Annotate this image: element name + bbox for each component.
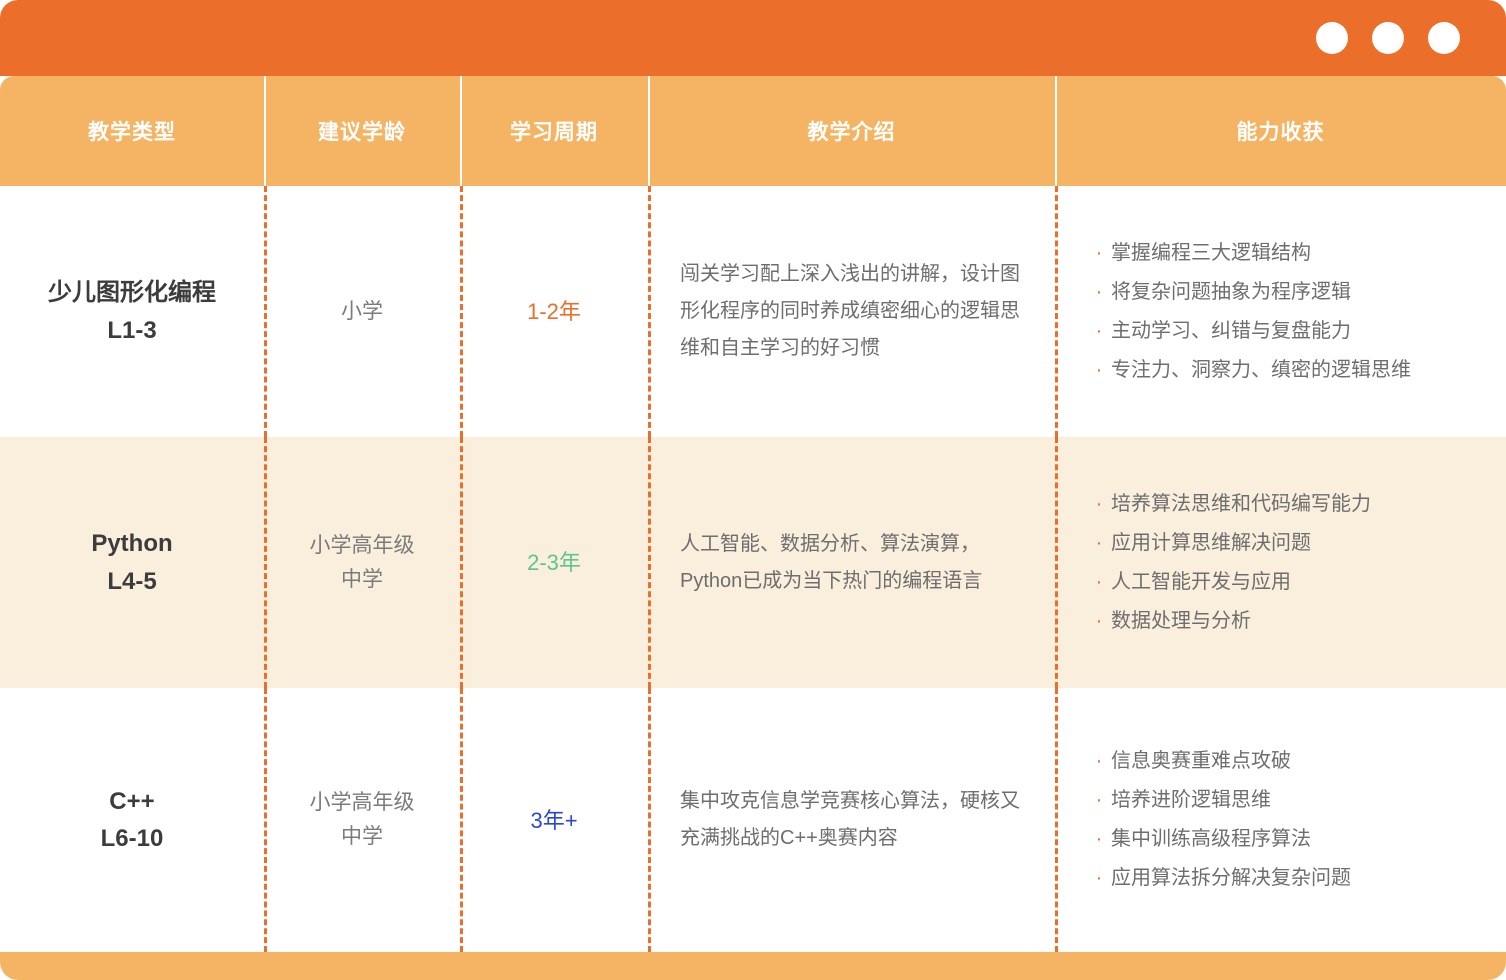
bullet-icon: · <box>1087 273 1111 312</box>
bullet-icon: · <box>1087 485 1111 524</box>
period-value: 3年+ <box>530 804 577 837</box>
list-item: · 应用算法拆分解决复杂问题 <box>1087 859 1486 898</box>
cell-age: 小学 <box>264 186 460 437</box>
window-dot-1-icon[interactable] <box>1316 22 1348 54</box>
intro-text: 集中攻克信息学竞赛核心算法，硬核又充满挑战的C++奥赛内容 <box>648 783 1055 857</box>
type-name-line1: Python <box>91 525 172 562</box>
bullet-icon: · <box>1087 820 1111 859</box>
window-title-bar <box>0 0 1506 76</box>
type-name-line1: 少儿图形化编程 <box>48 274 216 311</box>
course-comparison-card: 教学类型 建议学龄 学习周期 教学介绍 能力收获 少儿图形化编程 L1-3 小学… <box>0 0 1506 980</box>
gains-list: · 培养算法思维和代码编写能力 · 应用计算思维解决问题 · 人工智能开发与应用… <box>1055 485 1506 641</box>
list-item: · 主动学习、纠错与复盘能力 <box>1087 312 1486 351</box>
list-item: · 人工智能开发与应用 <box>1087 563 1486 602</box>
bullet-icon: · <box>1087 859 1111 898</box>
list-item: · 数据处理与分析 <box>1087 602 1486 641</box>
age-line1: 小学高年级 <box>310 529 415 563</box>
cell-type: 少儿图形化编程 L1-3 <box>0 186 264 437</box>
cell-period: 2-3年 <box>460 437 648 688</box>
gain-text: 信息奥赛重难点攻破 <box>1111 742 1291 781</box>
gain-text: 掌握编程三大逻辑结构 <box>1111 234 1311 273</box>
cell-gains: · 掌握编程三大逻辑结构 · 将复杂问题抽象为程序逻辑 · 主动学习、纠错与复盘… <box>1055 186 1506 437</box>
bullet-icon: · <box>1087 781 1111 820</box>
card-footer-bar <box>0 952 1506 980</box>
table-body: 少儿图形化编程 L1-3 小学 1-2年 闯关学习配上深入浅出的讲解，设计图形化… <box>0 186 1506 952</box>
period-value: 1-2年 <box>527 295 581 328</box>
cell-age: 小学高年级 中学 <box>264 437 460 688</box>
gain-text: 应用计算思维解决问题 <box>1111 524 1311 563</box>
cell-period: 3年+ <box>460 688 648 952</box>
gain-text: 应用算法拆分解决复杂问题 <box>1111 859 1351 898</box>
cell-intro: 集中攻克信息学竞赛核心算法，硬核又充满挑战的C++奥赛内容 <box>648 688 1055 952</box>
table-row: 少儿图形化编程 L1-3 小学 1-2年 闯关学习配上深入浅出的讲解，设计图形化… <box>0 186 1506 437</box>
cell-gains: · 培养算法思维和代码编写能力 · 应用计算思维解决问题 · 人工智能开发与应用… <box>1055 437 1506 688</box>
list-item: · 专注力、洞察力、缜密的逻辑思维 <box>1087 351 1486 390</box>
column-header-period: 学习周期 <box>460 76 648 186</box>
gain-text: 主动学习、纠错与复盘能力 <box>1111 312 1351 351</box>
type-name-line2: L1-3 <box>48 312 216 349</box>
cell-intro: 闯关学习配上深入浅出的讲解，设计图形化程序的同时养成缜密细心的逻辑思维和自主学习… <box>648 186 1055 437</box>
list-item: · 应用计算思维解决问题 <box>1087 524 1486 563</box>
gain-text: 将复杂问题抽象为程序逻辑 <box>1111 273 1351 312</box>
gain-text: 数据处理与分析 <box>1111 602 1251 641</box>
gain-text: 集中训练高级程序算法 <box>1111 820 1311 859</box>
intro-text: 人工智能、数据分析、算法演算，Python已成为当下热门的编程语言 <box>648 526 1055 600</box>
table-row: C++ L6-10 小学高年级 中学 3年+ 集中攻克信息学竞赛核心算法，硬核又… <box>0 688 1506 952</box>
cell-type: C++ L6-10 <box>0 688 264 952</box>
cell-gains: · 信息奥赛重难点攻破 · 培养进阶逻辑思维 · 集中训练高级程序算法 · 应用… <box>1055 688 1506 952</box>
bullet-icon: · <box>1087 312 1111 351</box>
table-row: Python L4-5 小学高年级 中学 2-3年 人工智能、数据分析、算法演算… <box>0 437 1506 688</box>
period-value: 2-3年 <box>527 546 581 579</box>
table-header-row: 教学类型 建议学龄 学习周期 教学介绍 能力收获 <box>0 76 1506 186</box>
bullet-icon: · <box>1087 742 1111 781</box>
cell-age: 小学高年级 中学 <box>264 688 460 952</box>
window-dot-3-icon[interactable] <box>1428 22 1460 54</box>
list-item: · 集中训练高级程序算法 <box>1087 820 1486 859</box>
type-name-line2: L4-5 <box>91 563 172 600</box>
bullet-icon: · <box>1087 234 1111 273</box>
intro-text: 闯关学习配上深入浅出的讲解，设计图形化程序的同时养成缜密细心的逻辑思维和自主学习… <box>648 256 1055 367</box>
cell-type: Python L4-5 <box>0 437 264 688</box>
list-item: · 信息奥赛重难点攻破 <box>1087 742 1486 781</box>
age-line2: 中学 <box>310 820 415 854</box>
window-controls <box>1316 22 1460 54</box>
type-name-line1: C++ <box>101 783 164 820</box>
age-line1: 小学高年级 <box>310 786 415 820</box>
gain-text: 培养算法思维和代码编写能力 <box>1111 485 1371 524</box>
type-name-line2: L6-10 <box>101 820 164 857</box>
gain-text: 培养进阶逻辑思维 <box>1111 781 1271 820</box>
age-line2: 中学 <box>310 563 415 597</box>
cell-period: 1-2年 <box>460 186 648 437</box>
column-header-age: 建议学龄 <box>264 76 460 186</box>
column-header-type: 教学类型 <box>0 76 264 186</box>
list-item: · 掌握编程三大逻辑结构 <box>1087 234 1486 273</box>
bullet-icon: · <box>1087 524 1111 563</box>
column-header-gains: 能力收获 <box>1055 76 1506 186</box>
list-item: · 培养算法思维和代码编写能力 <box>1087 485 1486 524</box>
gains-list: · 信息奥赛重难点攻破 · 培养进阶逻辑思维 · 集中训练高级程序算法 · 应用… <box>1055 742 1506 898</box>
bullet-icon: · <box>1087 351 1111 390</box>
window-dot-2-icon[interactable] <box>1372 22 1404 54</box>
age-line1: 小学 <box>341 295 383 329</box>
gain-text: 人工智能开发与应用 <box>1111 563 1291 602</box>
bullet-icon: · <box>1087 602 1111 641</box>
cell-intro: 人工智能、数据分析、算法演算，Python已成为当下热门的编程语言 <box>648 437 1055 688</box>
gains-list: · 掌握编程三大逻辑结构 · 将复杂问题抽象为程序逻辑 · 主动学习、纠错与复盘… <box>1055 234 1506 390</box>
bullet-icon: · <box>1087 563 1111 602</box>
column-header-intro: 教学介绍 <box>648 76 1055 186</box>
gain-text: 专注力、洞察力、缜密的逻辑思维 <box>1111 351 1411 390</box>
list-item: · 培养进阶逻辑思维 <box>1087 781 1486 820</box>
list-item: · 将复杂问题抽象为程序逻辑 <box>1087 273 1486 312</box>
